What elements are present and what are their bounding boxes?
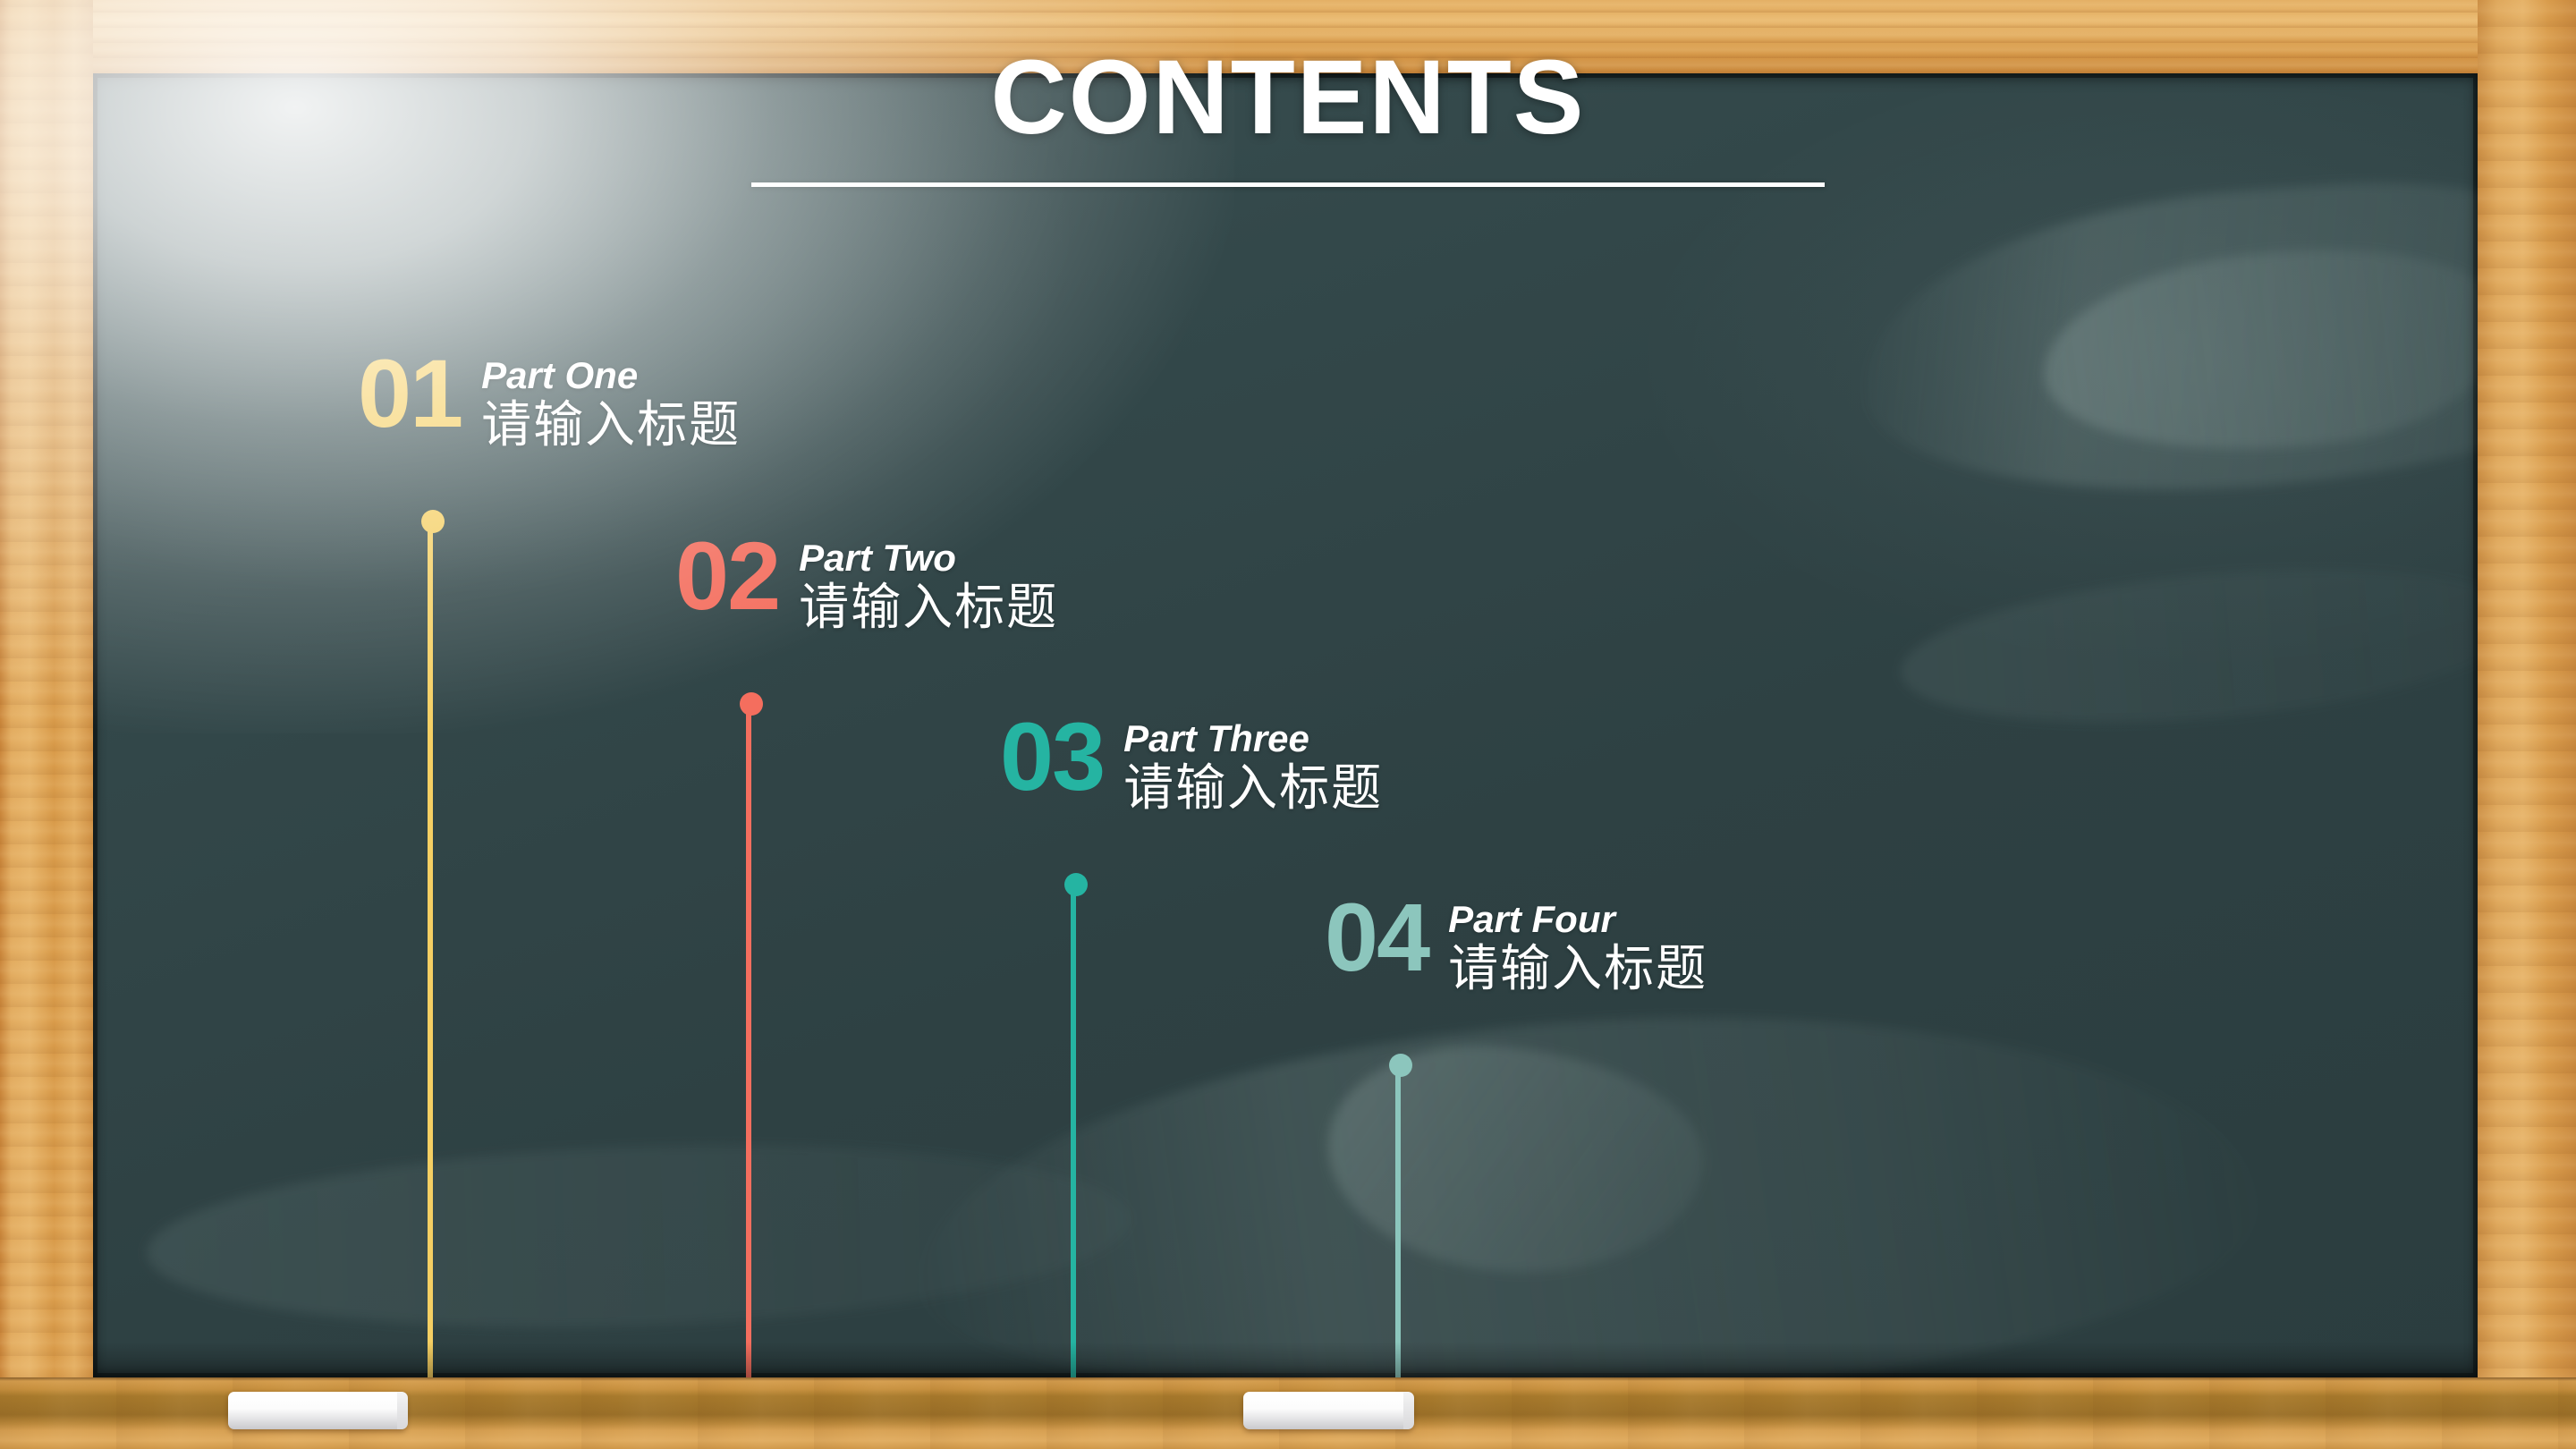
item-english-label: Part One [481,356,741,395]
chalk-stick-2 [1243,1392,1413,1429]
chalk-stick-1 [228,1392,407,1429]
item-text-block: Part Four请输入标题 [1448,891,1707,998]
contents-list: 01Part One请输入标题02Part Two请输入标题03Part Thr… [0,0,2576,1449]
item-chinese-title: 请输入标题 [1123,758,1383,818]
item-text-block: Part Two请输入标题 [799,530,1058,637]
item-number: 01 [358,347,462,440]
chalk-end-cap [1403,1392,1414,1429]
item-english-label: Part Three [1123,719,1383,758]
item-number: 04 [1325,891,1428,984]
item-text-block: Part Three请输入标题 [1123,710,1383,818]
slide-canvas: CONTENTS 01Part One请输入标题02Part Two请输入标题0… [0,0,2576,1449]
item-number: 03 [1000,710,1104,803]
item-chinese-title: 请输入标题 [799,578,1058,637]
contents-item-04[interactable]: 04Part Four请输入标题 [1325,891,1707,998]
item-english-label: Part Four [1448,900,1707,939]
item-text-block: Part One请输入标题 [481,347,741,454]
item-english-label: Part Two [799,538,1058,578]
item-chinese-title: 请输入标题 [1448,939,1707,998]
contents-item-03[interactable]: 03Part Three请输入标题 [1000,710,1383,818]
contents-item-02[interactable]: 02Part Two请输入标题 [675,530,1058,637]
item-number: 02 [675,530,779,623]
contents-item-01[interactable]: 01Part One请输入标题 [358,347,741,454]
chalk-end-cap [397,1392,408,1429]
item-chinese-title: 请输入标题 [481,395,741,454]
